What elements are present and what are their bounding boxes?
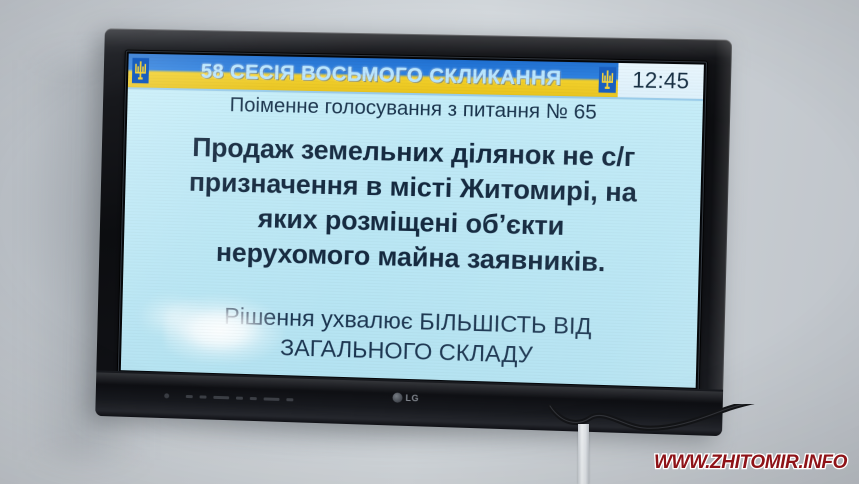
tv-screen: 58 СЕСІЯ ВОСЬМОГО СКЛИКАННЯ (121, 54, 704, 388)
tv-button[interactable] (286, 398, 293, 401)
tv-button[interactable] (250, 397, 257, 400)
tv-button[interactable] (200, 395, 207, 398)
lg-mark-icon (392, 393, 402, 403)
ir-receiver (164, 393, 169, 398)
motion-text: Продаж земельних ділянок не с/г призначе… (129, 129, 698, 283)
tv-button[interactable] (264, 397, 280, 400)
tv-button[interactable] (236, 397, 243, 400)
cable-conduit (578, 424, 589, 484)
wall-mounted-tv: 58 СЕСІЯ ВОСЬМОГО СКЛИКАННЯ (95, 28, 732, 436)
lg-brand-label: LG (405, 393, 419, 403)
ukraine-trident-icon-left (132, 58, 149, 84)
banner-title: 58 СЕСІЯ ВОСЬМОГО СКЛИКАННЯ (128, 59, 618, 93)
site-watermark: WWW.ZHITOMIR.INFO (654, 452, 847, 474)
decision-rule-text: Рішення ухвалює БІЛЬШІСТЬ ВІД ЗАГАЛЬНОГО… (127, 298, 691, 376)
tv-button[interactable] (186, 395, 193, 398)
ukraine-trident-icon-right (599, 67, 617, 94)
screen-frame: 58 СЕСІЯ ВОСЬМОГО СКЛИКАННЯ (118, 51, 707, 391)
screenshot-root: 58 СЕСІЯ ВОСЬМОГО СКЛИКАННЯ (0, 0, 859, 484)
tv-bezel: 58 СЕСІЯ ВОСЬМОГО СКЛИКАННЯ (95, 28, 732, 436)
tv-button[interactable] (213, 396, 229, 399)
tv-control-buttons[interactable] (186, 395, 294, 401)
lg-brand-logo: LG (392, 393, 419, 404)
clock-display: 12:45 (618, 63, 704, 99)
